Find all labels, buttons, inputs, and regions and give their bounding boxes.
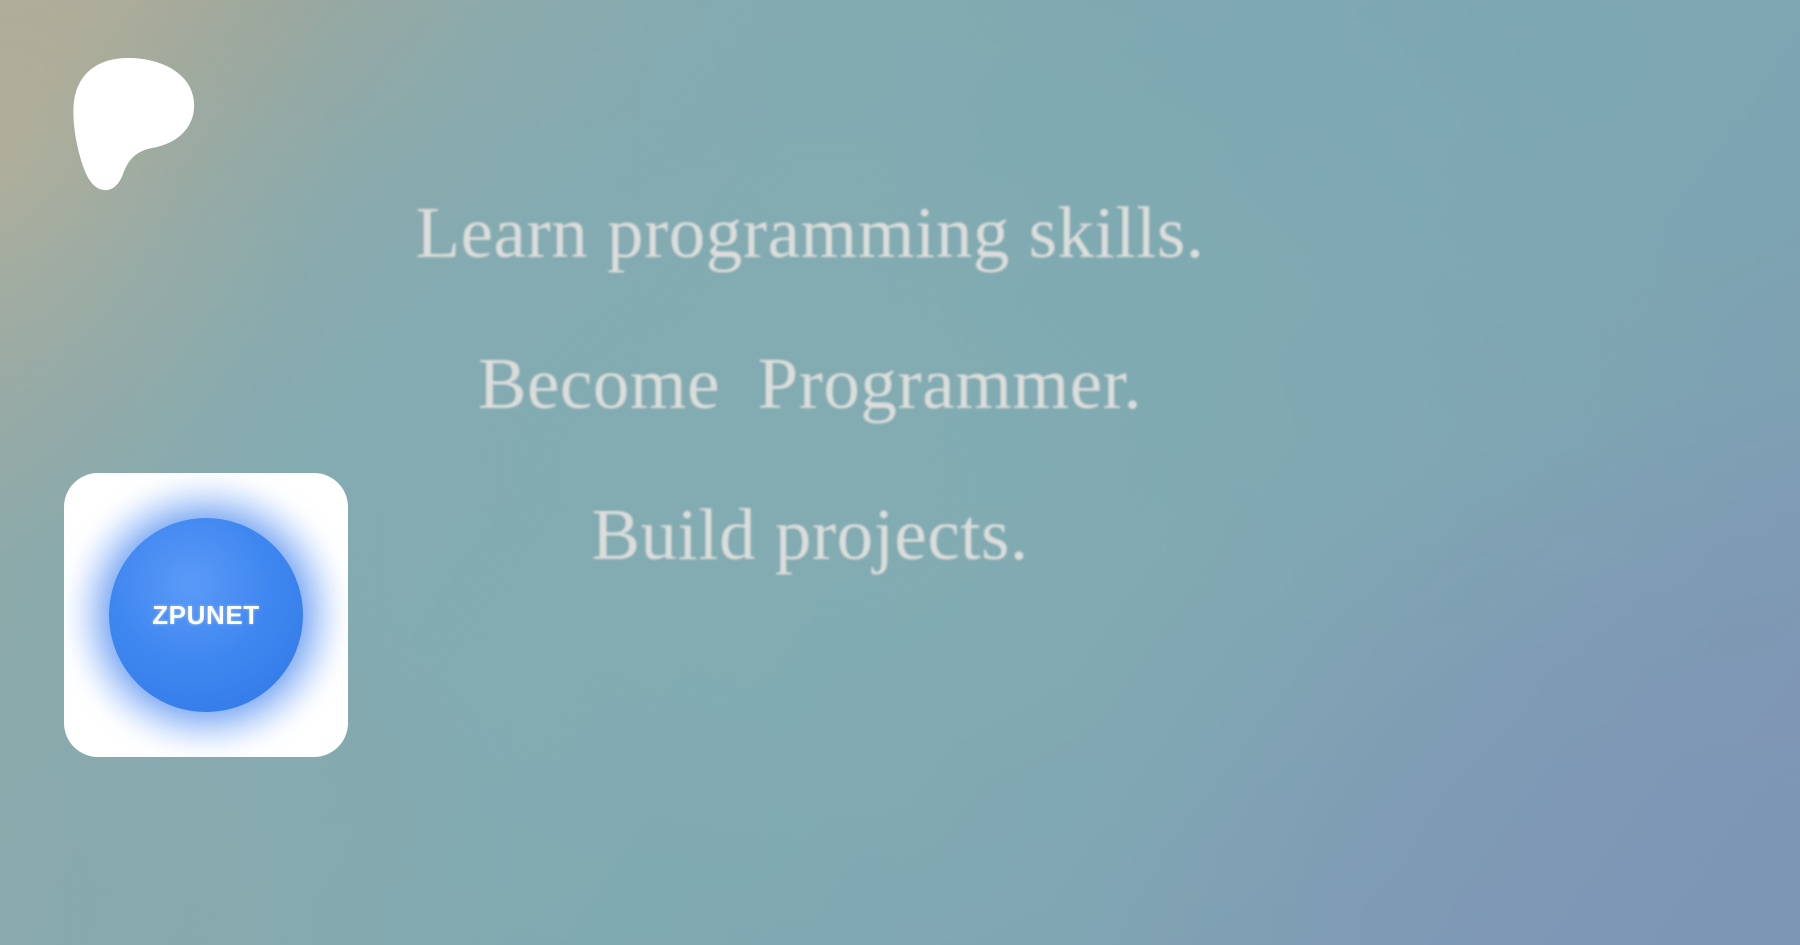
headline-line-3: Build projects. — [300, 498, 1320, 571]
zpunet-badge-card[interactable]: ZPUNET — [64, 473, 348, 757]
headline-block: Learn programming skills. Become Program… — [300, 196, 1320, 571]
promo-banner: Learn programming skills. Become Program… — [0, 0, 1800, 945]
patreon-logo-icon — [70, 52, 198, 192]
zpunet-logo-circle: ZPUNET — [109, 518, 303, 712]
zpunet-wordmark: ZPUNET — [152, 600, 260, 631]
headline-line-1: Learn programming skills. — [300, 196, 1320, 269]
headline-line-2: Become Programmer. — [300, 347, 1320, 420]
